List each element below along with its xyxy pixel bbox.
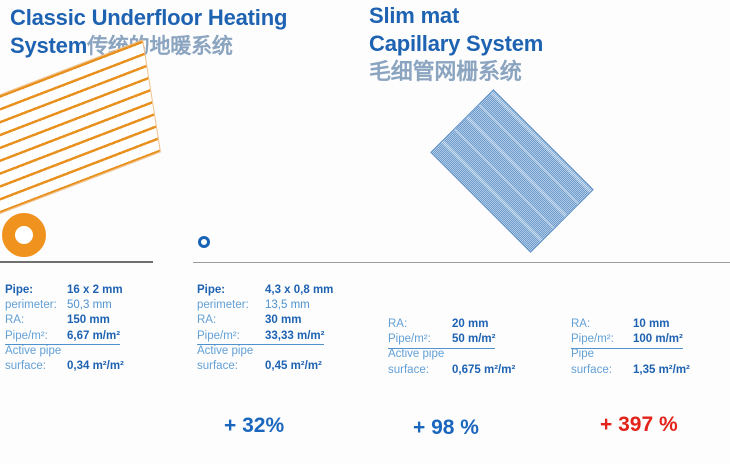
spec-value: 1,35 m²/m² [633,363,690,378]
right-title-line2: Capillary System [369,30,709,58]
left-title-line1: Classic Underfloor Heating [10,4,360,32]
divider-right [193,262,730,263]
percentage-gain-1: + 32% [224,414,284,438]
pipe-cross-section-orange-icon [2,213,46,257]
spec-label: Active pipe [197,344,265,359]
spec-row: RA:30 mm [197,313,333,328]
spec-label: RA: [571,317,633,332]
spec-row: surface:1,35 m²/m² [571,363,690,378]
spec-row: Pipe/m²:33,33 m/m² [197,329,333,344]
spec-row: Pipe/m²:6,67 m/m² [5,329,124,344]
spec-label: Active pipe [5,344,67,359]
spec-value: 0,45 m²/m² [265,359,322,374]
spec-block-classic: Pipe:16 x 2 mmperimeter:50,3 mmRA:150 mm… [5,283,124,374]
spec-label: RA: [5,313,67,328]
right-title-line3-cn: 毛细管网栅系统 [369,58,709,86]
spec-value: 0,675 m²/m² [452,363,515,378]
spec-label: Pipe/m²: [5,329,67,346]
spec-value: 50,3 mm [67,298,112,313]
spec-value: 16 x 2 mm [67,283,123,298]
pipe-cross-section-blue-icon [198,236,210,248]
spec-row: Active pipe [5,344,124,359]
spec-row: Pipe/m²:100 m/m² [571,332,690,347]
spec-value: 4,3 x 0,8 mm [265,283,333,298]
spec-row: Pipe [571,347,690,362]
spec-value: 20 mm [452,317,488,332]
spec-block-capillary-20: RA:20 mmPipe/m²:50 m/m²Active pipesurfac… [388,317,515,378]
spec-value: 100 m/m² [633,332,683,349]
spec-label: Pipe: [197,283,265,298]
spec-label: Pipe/m²: [197,329,265,346]
spec-value: 150 mm [67,313,110,328]
spec-label: Pipe [571,347,633,362]
spec-row: perimeter:13,5 mm [197,298,333,313]
spec-row: surface:0,675 m²/m² [388,363,515,378]
spec-block-capillary-30: Pipe:4,3 x 0,8 mmperimeter:13,5 mmRA:30 … [197,283,333,374]
spec-row: surface:0,34 m²/m² [5,359,124,374]
spec-label: surface: [197,359,265,374]
spec-label: Pipe: [5,283,67,298]
spec-block-capillary-10: RA:10 mmPipe/m²:100 m/m²Pipesurface:1,35… [571,317,690,378]
spec-value: 13,5 mm [265,298,310,313]
spec-label: surface: [5,359,67,374]
spec-row: Active pipe [388,347,515,362]
spec-value: 30 mm [265,313,301,328]
spec-value: 10 mm [633,317,669,332]
percentage-gain-3: + 397 % [600,413,678,437]
spec-row: RA:10 mm [571,317,690,332]
spec-value: 33,33 m/m² [265,329,324,346]
right-title-line1: Slim mat [369,2,709,30]
spec-label: Pipe/m²: [388,332,452,349]
spec-label: perimeter: [197,298,265,313]
spec-label: Pipe/m²: [571,332,633,349]
spec-row: Pipe/m²:50 m/m² [388,332,515,347]
spec-label: RA: [197,313,265,328]
classic-underfloor-heating-mat-icon [0,39,161,217]
left-title-line2: System传统的地暖系统 [10,32,360,61]
spec-label: perimeter: [5,298,67,313]
spec-value: 0,34 m²/m² [67,359,124,374]
percentage-gain-2: + 98 % [413,416,479,440]
spec-label: surface: [571,363,633,378]
spec-row: surface:0,45 m²/m² [197,359,333,374]
divider-left [0,261,153,263]
spec-row: RA:150 mm [5,313,124,328]
spec-row: Pipe:4,3 x 0,8 mm [197,283,333,298]
spec-value: 6,67 m/m² [67,329,120,346]
slide-canvas: Classic Underfloor Heating System传统的地暖系统… [0,0,730,464]
spec-label: surface: [388,363,452,378]
spec-value: 50 m/m² [452,332,495,349]
spec-row: RA:20 mm [388,317,515,332]
left-title-line2-en: System [10,33,87,58]
capillary-slim-mat-icon [430,89,594,253]
spec-row: Pipe:16 x 2 mm [5,283,124,298]
spec-row: Active pipe [197,344,333,359]
spec-row: perimeter:50,3 mm [5,298,124,313]
spec-label: RA: [388,317,452,332]
spec-label: Active pipe [388,347,452,362]
right-title-block: Slim mat Capillary System 毛细管网栅系统 [369,2,709,86]
left-title-block: Classic Underfloor Heating System传统的地暖系统 [10,4,360,61]
